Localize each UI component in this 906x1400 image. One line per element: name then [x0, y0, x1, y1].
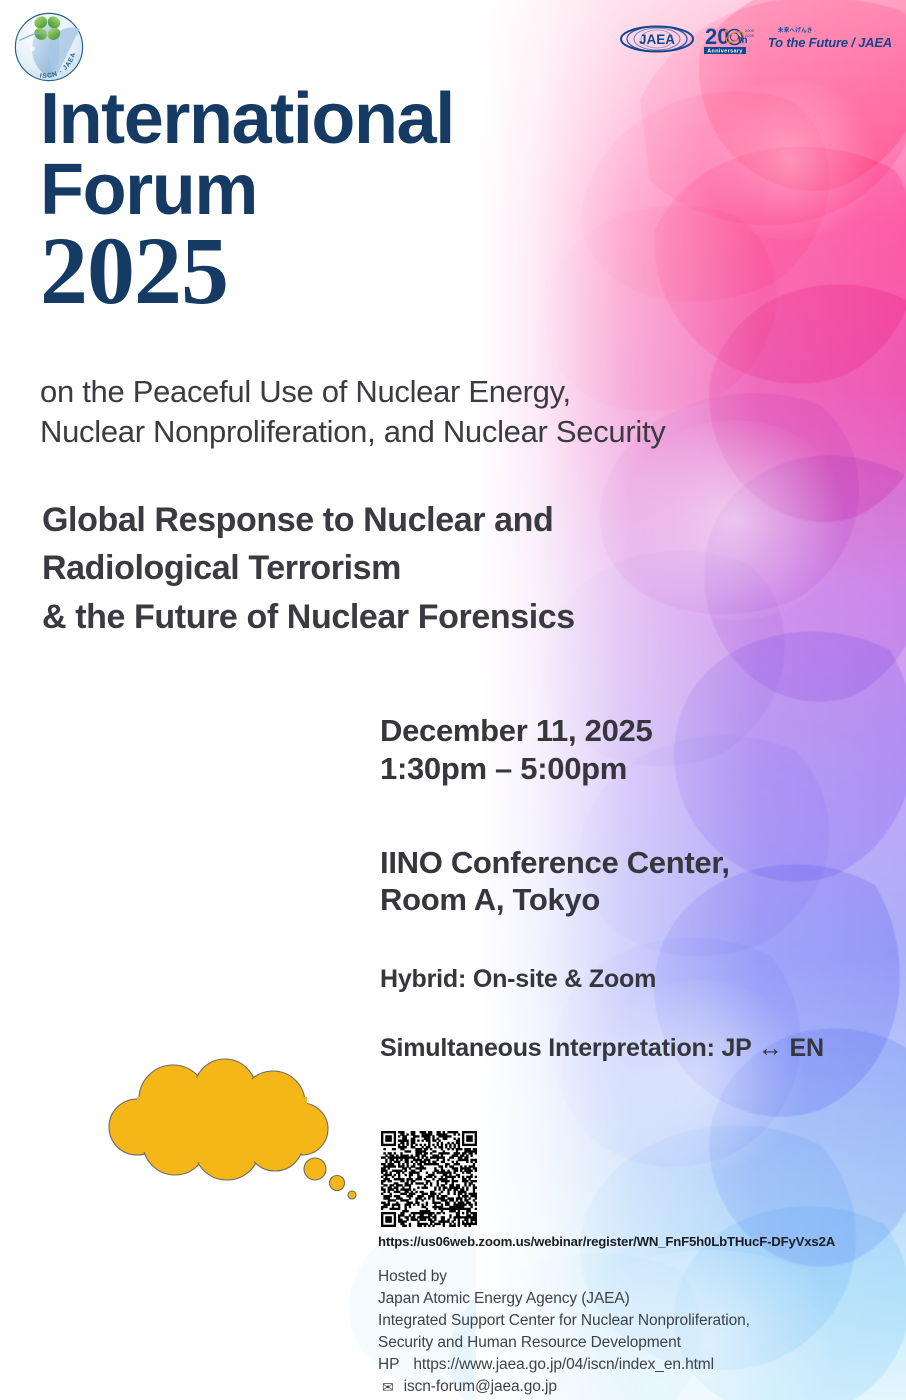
- event-date: December 11, 2025: [380, 712, 824, 750]
- homepage-label: HP: [378, 1354, 399, 1376]
- event-format: Hybrid: On-site & Zoom: [380, 965, 824, 994]
- free-registration-badge[interactable]: [97, 1057, 359, 1212]
- hosted-by-label: Hosted by: [378, 1266, 750, 1288]
- footer-host-info: Hosted by Japan Atomic Energy Agency (JA…: [378, 1266, 750, 1398]
- petal-shape: [690, 430, 906, 720]
- jaea-logo-group: JAEA 20 th 2005 2025 Anniversary 未来へげんき …: [618, 22, 892, 56]
- event-datetime: December 11, 2025 1:30pm – 5:00pm: [380, 712, 824, 788]
- contact-email[interactable]: iscn-forum@jaea.go.jp: [404, 1376, 557, 1398]
- forum-theme: Global Response to Nuclear and Radiologi…: [42, 496, 575, 641]
- title-year: 2025: [40, 227, 454, 315]
- title-line-1: International: [40, 84, 454, 155]
- theme-line-2: Radiological Terrorism: [42, 544, 575, 592]
- registration-qr-block[interactable]: [378, 1128, 480, 1230]
- anniversary-label: Anniversary: [707, 49, 743, 55]
- subtitle-line-1: on the Peaceful Use of Nuclear Energy,: [40, 372, 665, 412]
- homepage-row: HP https://www.jaea.go.jp/04/iscn/index_…: [378, 1354, 750, 1376]
- homepage-url[interactable]: https://www.jaea.go.jp/04/iscn/index_en.…: [413, 1354, 714, 1376]
- event-venue: IINO Conference Center, Room A, Tokyo: [380, 844, 824, 920]
- host-center-line-1: Integrated Support Center for Nuclear No…: [378, 1310, 750, 1332]
- event-time: 1:30pm – 5:00pm: [380, 750, 824, 788]
- page-title: International Forum 2025: [40, 84, 454, 315]
- background-color-wash: [476, 0, 906, 1400]
- venue-line-1: IINO Conference Center,: [380, 844, 824, 882]
- venue-line-2: Room A, Tokyo: [380, 881, 824, 919]
- title-line-2: Forum: [40, 155, 454, 226]
- event-interpretation: Simultaneous Interpretation: JP ↔ EN: [380, 1034, 824, 1063]
- petal-shape: [700, 260, 906, 540]
- jaea-20th-anniversary-logo: 20 th 2005 2025 Anniversary: [704, 22, 760, 56]
- registration-qr-code[interactable]: [378, 1128, 480, 1230]
- background-white-fade: [476, 0, 906, 1400]
- theme-line-3: & the Future of Nuclear Forensics: [42, 593, 575, 641]
- event-details: December 11, 2025 1:30pm – 5:00pm IINO C…: [380, 712, 824, 1063]
- jaea-tagline-en: To the Future / JAEA: [768, 36, 892, 49]
- email-row: ✉ iscn-forum@jaea.go.jp: [378, 1376, 750, 1398]
- envelope-icon: ✉: [382, 1380, 394, 1394]
- petal-highlight: [700, 80, 880, 240]
- host-organization: Japan Atomic Energy Agency (JAEA): [378, 1288, 750, 1310]
- anniversary-number: 20: [705, 24, 729, 49]
- poster-canvas: ISCN - JAEA JAEA 20 th 2005 2025 Anniver…: [0, 0, 906, 1400]
- theme-line-1: Global Response to Nuclear and: [42, 496, 575, 544]
- jaea-wordmark-logo: JAEA: [618, 24, 696, 54]
- jaea-wordmark-text: JAEA: [639, 32, 675, 47]
- petal-shape: [640, 120, 906, 410]
- subtitle-line-2: Nuclear Nonproliferation, and Nuclear Se…: [40, 412, 665, 452]
- anniversary-year-end: 2025: [745, 33, 755, 38]
- subtitle: on the Peaceful Use of Nuclear Energy, N…: [40, 372, 665, 453]
- registration-url[interactable]: https://us06web.zoom.us/webinar/register…: [378, 1234, 835, 1249]
- petal-shape: [560, 60, 860, 320]
- jaea-tagline-jp: 未来へげんき: [778, 29, 813, 35]
- iscn-jaea-logo: ISCN - JAEA: [8, 6, 90, 88]
- jaea-tagline: 未来へげんき To the Future / JAEA: [768, 29, 892, 49]
- host-center-line-2: Security and Human Resource Development: [378, 1332, 750, 1354]
